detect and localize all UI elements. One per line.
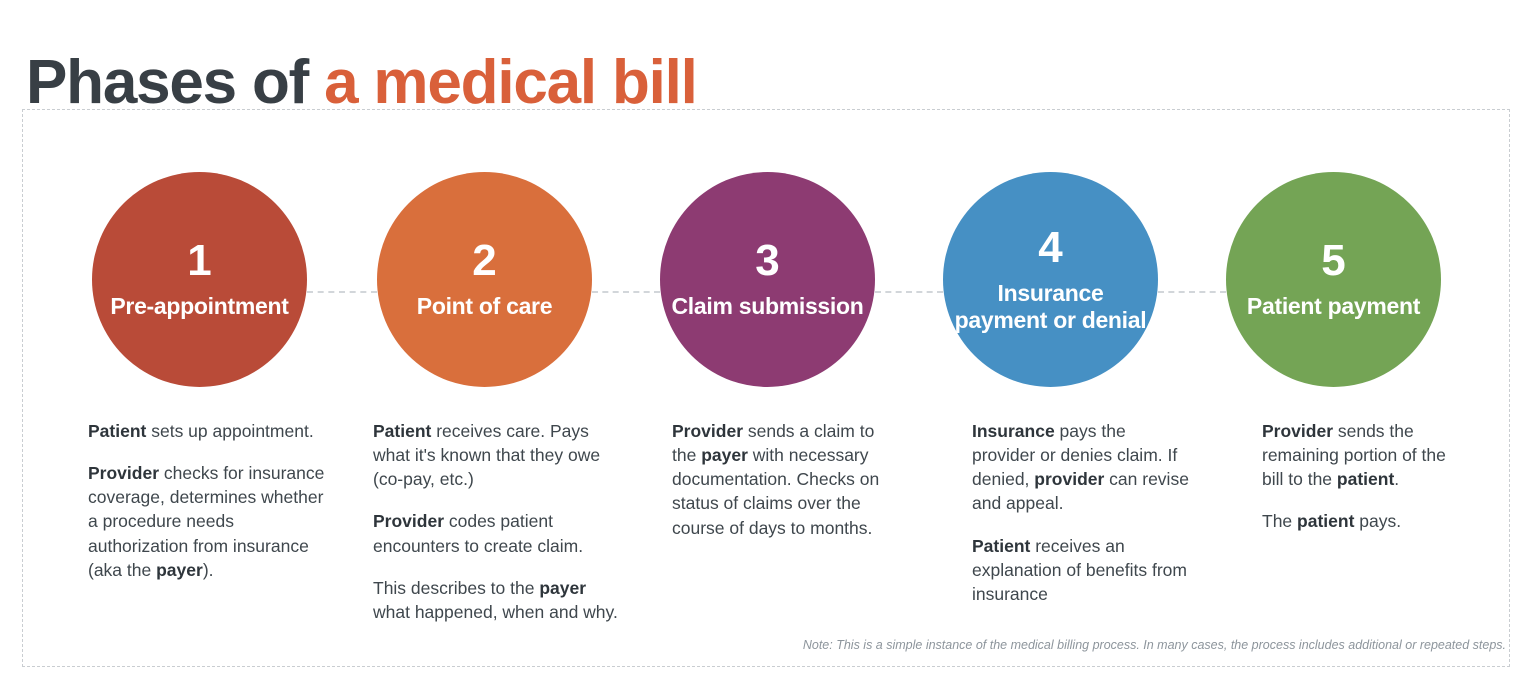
description-paragraph: Provider checks for insurance coverage, … [88, 461, 328, 582]
description-paragraph: The patient pays. [1262, 509, 1462, 533]
phase-label: Patient payment [1239, 293, 1428, 319]
phase-number: 2 [472, 239, 496, 283]
description-paragraph: This describes to the payer what happene… [373, 576, 623, 624]
keyword-emphasis: payer [156, 560, 203, 580]
phase-circle-5[interactable]: 5Patient payment [1226, 172, 1441, 387]
keyword-emphasis: Insurance [972, 421, 1055, 441]
phase-number: 5 [1321, 239, 1345, 283]
keyword-emphasis: Provider [1262, 421, 1333, 441]
description-paragraph: Provider sends the remaining portion of … [1262, 419, 1462, 491]
keyword-emphasis: Patient [373, 421, 431, 441]
page-title-lead: Phases of [26, 48, 324, 117]
description-text: . [1394, 469, 1399, 489]
phase-label: Claim submission [663, 293, 871, 319]
description-text: sets up appointment. [146, 421, 313, 441]
description-paragraph: Provider sends a claim to the payer with… [672, 419, 902, 540]
phase-circle-1[interactable]: 1Pre-appointment [92, 172, 307, 387]
keyword-emphasis: patient [1337, 469, 1394, 489]
keyword-emphasis: Patient [972, 536, 1030, 556]
phase-description: Patient sets up appointment.Provider che… [88, 419, 328, 582]
phase-description: Provider sends a claim to the payer with… [672, 419, 902, 540]
keyword-emphasis: Provider [672, 421, 743, 441]
phase-circle-2[interactable]: 2Point of care [377, 172, 592, 387]
keyword-emphasis: Provider [88, 463, 159, 483]
keyword-emphasis: payer [539, 578, 586, 598]
phase-circle-3[interactable]: 3Claim submission [660, 172, 875, 387]
phase-circle-4[interactable]: 4Insurance payment or denial [943, 172, 1158, 387]
phase-number: 1 [187, 239, 211, 283]
description-text: ). [203, 560, 214, 580]
keyword-emphasis: Patient [88, 421, 146, 441]
phase-column: 3Claim submissionProvider sends a claim … [650, 172, 938, 387]
description-text: what happened, when and why. [373, 602, 618, 622]
phase-description: Insurance pays the provider or denies cl… [972, 419, 1192, 606]
keyword-emphasis: payer [701, 445, 748, 465]
phase-label: Point of care [409, 293, 560, 319]
keyword-emphasis: patient [1297, 511, 1354, 531]
keyword-emphasis: provider [1034, 469, 1104, 489]
description-text: This describes to the [373, 578, 539, 598]
phase-number: 4 [1038, 226, 1062, 270]
description-paragraph: Patient sets up appointment. [88, 419, 328, 443]
phase-column: 1Pre-appointmentPatient sets up appointm… [80, 172, 368, 387]
phase-column: 5Patient paymentProvider sends the remai… [1220, 172, 1508, 387]
description-paragraph: Patient receives care. Pays what it's kn… [373, 419, 623, 491]
phase-description: Patient receives care. Pays what it's kn… [373, 419, 623, 624]
phase-number: 3 [755, 239, 779, 283]
phase-column: 4Insurance payment or denialInsurance pa… [935, 172, 1223, 387]
footnote: Note: This is a simple instance of the m… [803, 638, 1506, 652]
page-title-accent: a medical bill [324, 48, 697, 117]
phase-label: Insurance payment or denial [943, 280, 1158, 333]
infographic-page: Phases of a medical bill 1Pre-appointmen… [0, 0, 1536, 686]
phase-column: 2Point of carePatient receives care. Pay… [365, 172, 653, 387]
description-paragraph: Insurance pays the provider or denies cl… [972, 419, 1192, 516]
phase-description: Provider sends the remaining portion of … [1262, 419, 1462, 534]
description-paragraph: Patient receives an explanation of benef… [972, 534, 1192, 606]
description-text: pays. [1354, 511, 1401, 531]
keyword-emphasis: Provider [373, 511, 444, 531]
phase-label: Pre-appointment [102, 293, 296, 319]
description-paragraph: Provider codes patient encounters to cre… [373, 509, 623, 557]
description-text: The [1262, 511, 1297, 531]
